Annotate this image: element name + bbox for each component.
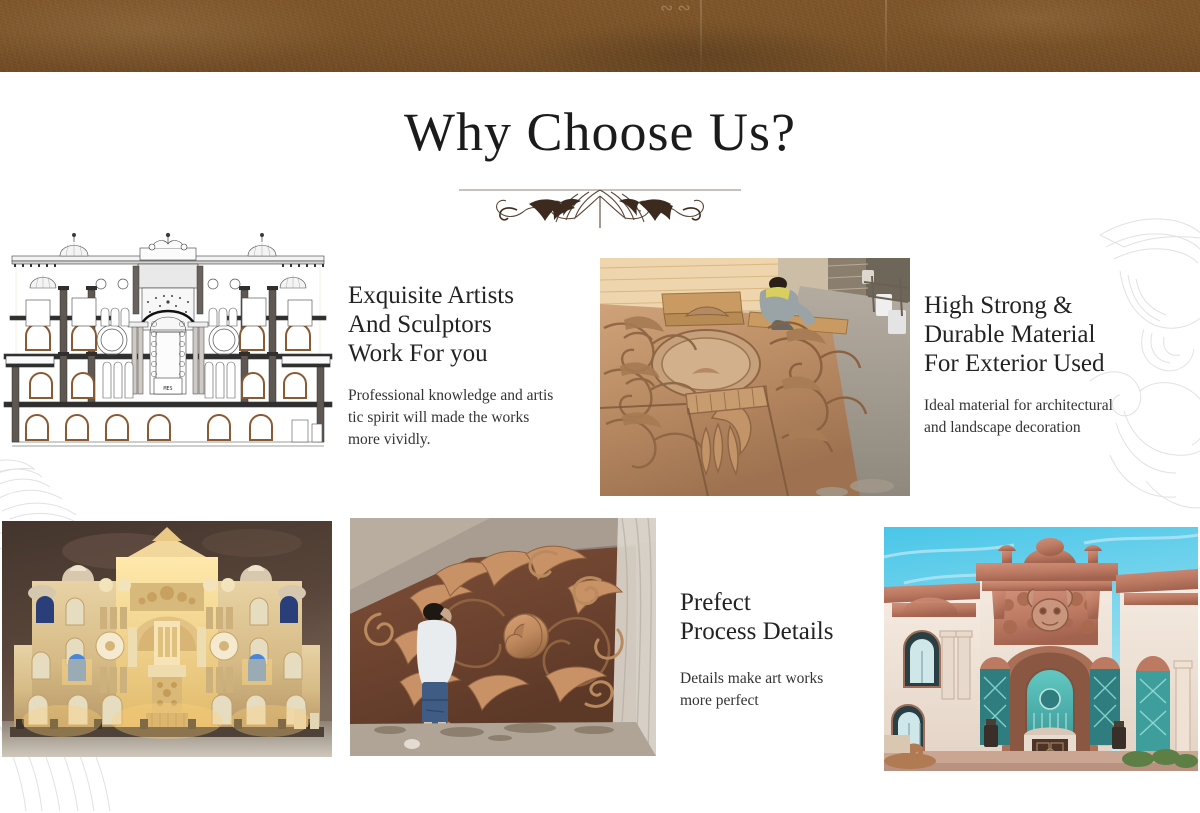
illuminated-facade-render [2,521,332,757]
banner-grain-texture [0,0,1200,72]
page-title-text: Why Choose Us? [0,104,1200,161]
feature-title: Exquisite Artists And Sculptors Work For… [348,281,598,368]
ornamental-flourish-divider-icon [455,176,745,232]
page-title: Why Choose Us? [0,104,1200,161]
banner-watermark-glyph: ∾∾ [660,0,695,18]
cad-elevation-drawing: MES [2,228,334,454]
feature-block-prefect-process-details: Prefect Process Details Details make art… [680,588,890,712]
relief-wall-sculpting-photo [350,518,656,756]
carving-workshop-photo [600,258,910,496]
feature-body: Details make art works more perfect [680,668,890,712]
feature-title: High Strong & Durable Material For Exter… [924,291,1192,378]
feature-title: Prefect Process Details [680,588,890,646]
feature-block-exquisite-artists: Exquisite Artists And Sculptors Work For… [348,281,598,451]
feature-body: Professional knowledge and artis tic spi… [348,385,598,451]
svg-text:MES: MES [163,386,172,392]
banner-seam-right [885,0,887,72]
feature-body: Ideal material for architectural and lan… [924,395,1192,439]
finished-villa-photo [884,527,1198,771]
top-texture-banner: ∾∾ [0,0,1200,72]
why-choose-us-page: ∾∾ [0,0,1200,813]
feature-block-high-strong-durable: High Strong & Durable Material For Exter… [924,291,1192,439]
banner-seam-left [700,0,702,72]
